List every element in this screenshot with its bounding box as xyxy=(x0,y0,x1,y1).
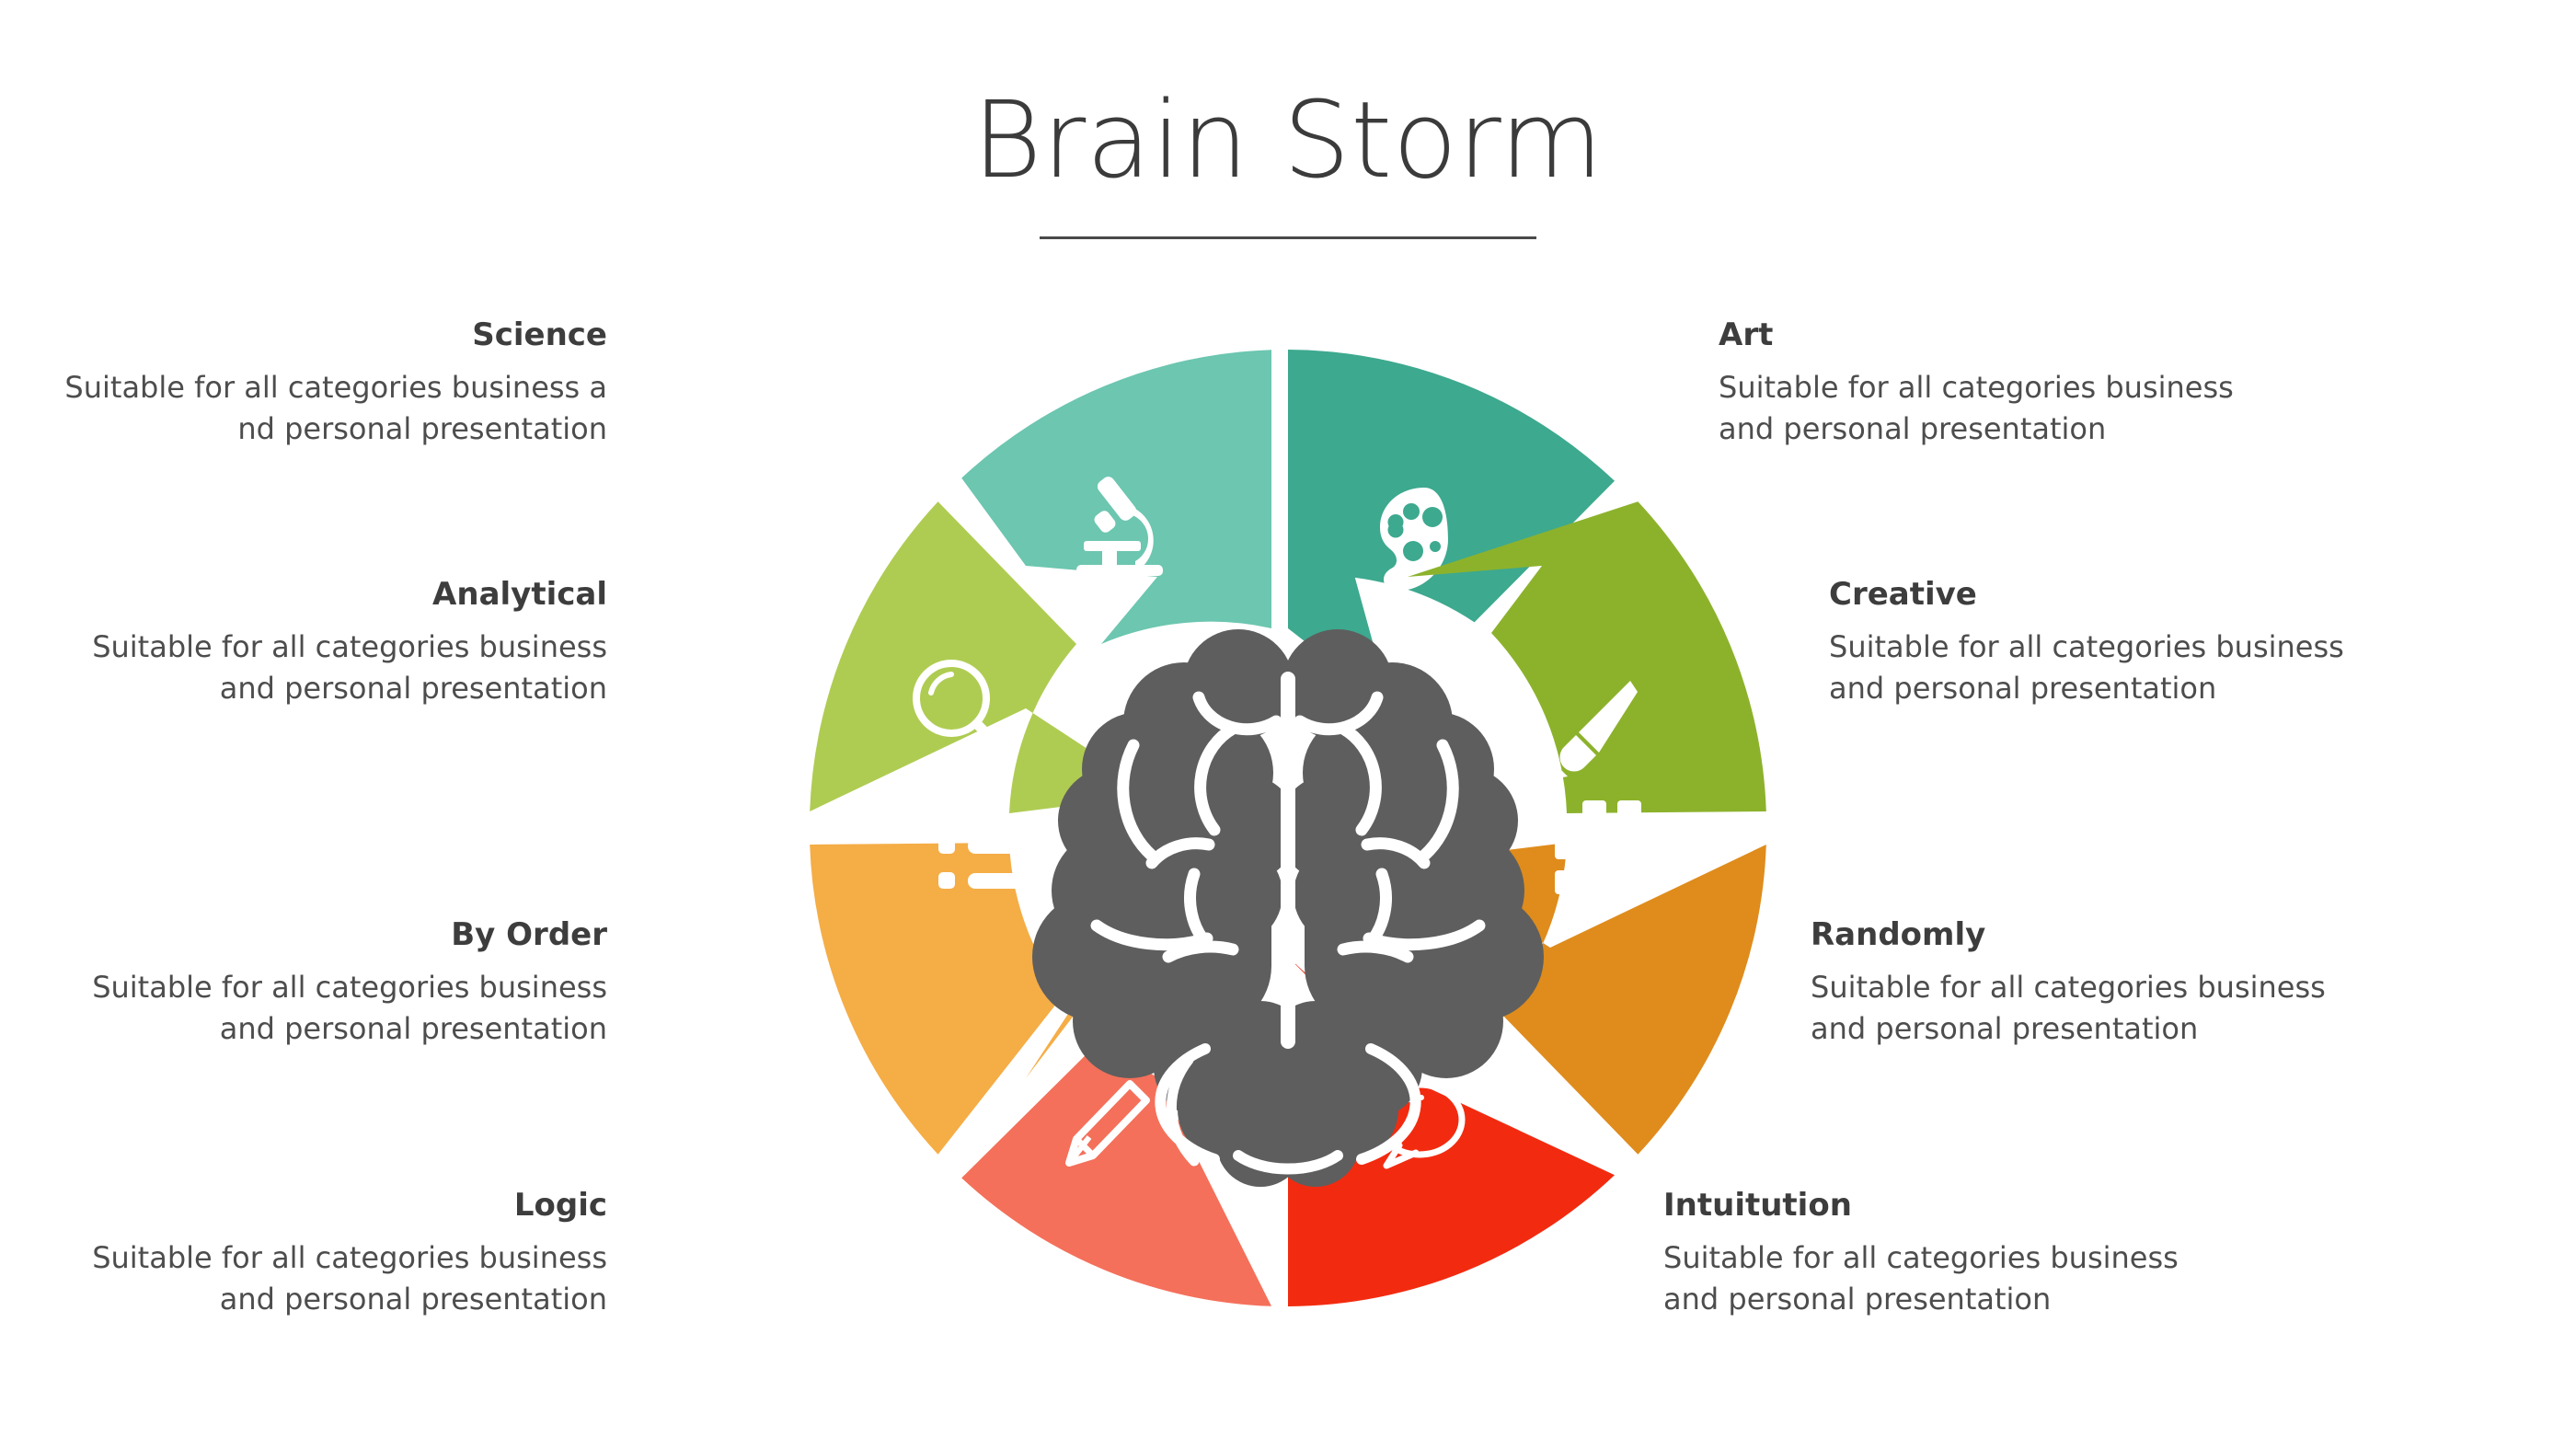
brainstorm-wheel xyxy=(773,313,1803,1343)
segment-description-analytical: Suitable for all categories business and… xyxy=(18,627,607,710)
label-block-science: Science Suitable for all categories busi… xyxy=(18,316,607,451)
segment-description-creative: Suitable for all categories business and… xyxy=(1829,627,2418,710)
segment-title-byorder: By Order xyxy=(18,916,607,954)
page-title: Brain Storm xyxy=(0,88,2576,194)
segment-title-science: Science xyxy=(18,316,607,354)
segment-description-art: Suitable for all categories business and… xyxy=(1719,367,2307,451)
segment-title-intuitution: Intuitution xyxy=(1663,1187,2252,1225)
segment-title-randomly: Randomly xyxy=(1811,916,2399,954)
title-block: Brain Storm xyxy=(0,88,2576,239)
segment-description-intuitution: Suitable for all categories business and… xyxy=(1663,1237,2252,1321)
segment-title-creative: Creative xyxy=(1829,576,2418,614)
title-underline-divider xyxy=(1040,236,1536,239)
label-block-logic: Logic Suitable for all categories busine… xyxy=(18,1187,607,1321)
segment-description-science: Suitable for all categories business a n… xyxy=(18,367,607,451)
bullet-list-icon xyxy=(938,802,1040,889)
label-block-creative: Creative Suitable for all categories bus… xyxy=(1829,576,2418,710)
label-block-randomly: Randomly Suitable for all categories bus… xyxy=(1811,916,2399,1051)
segment-title-analytical: Analytical xyxy=(18,576,607,614)
label-block-intuitution: Intuitution Suitable for all categories … xyxy=(1663,1187,2252,1321)
segment-title-art: Art xyxy=(1719,316,2307,354)
segment-description-logic: Suitable for all categories business and… xyxy=(18,1237,607,1321)
segment-description-randomly: Suitable for all categories business and… xyxy=(1811,967,2399,1051)
segment-title-logic: Logic xyxy=(18,1187,607,1225)
label-block-art: Art Suitable for all categories business… xyxy=(1719,316,2307,451)
segment-description-byorder: Suitable for all categories business and… xyxy=(18,967,607,1051)
label-block-byorder: By Order Suitable for all categories bus… xyxy=(18,916,607,1051)
label-block-analytical: Analytical Suitable for all categories b… xyxy=(18,576,607,710)
scatter-grid-icon xyxy=(1555,800,1649,894)
